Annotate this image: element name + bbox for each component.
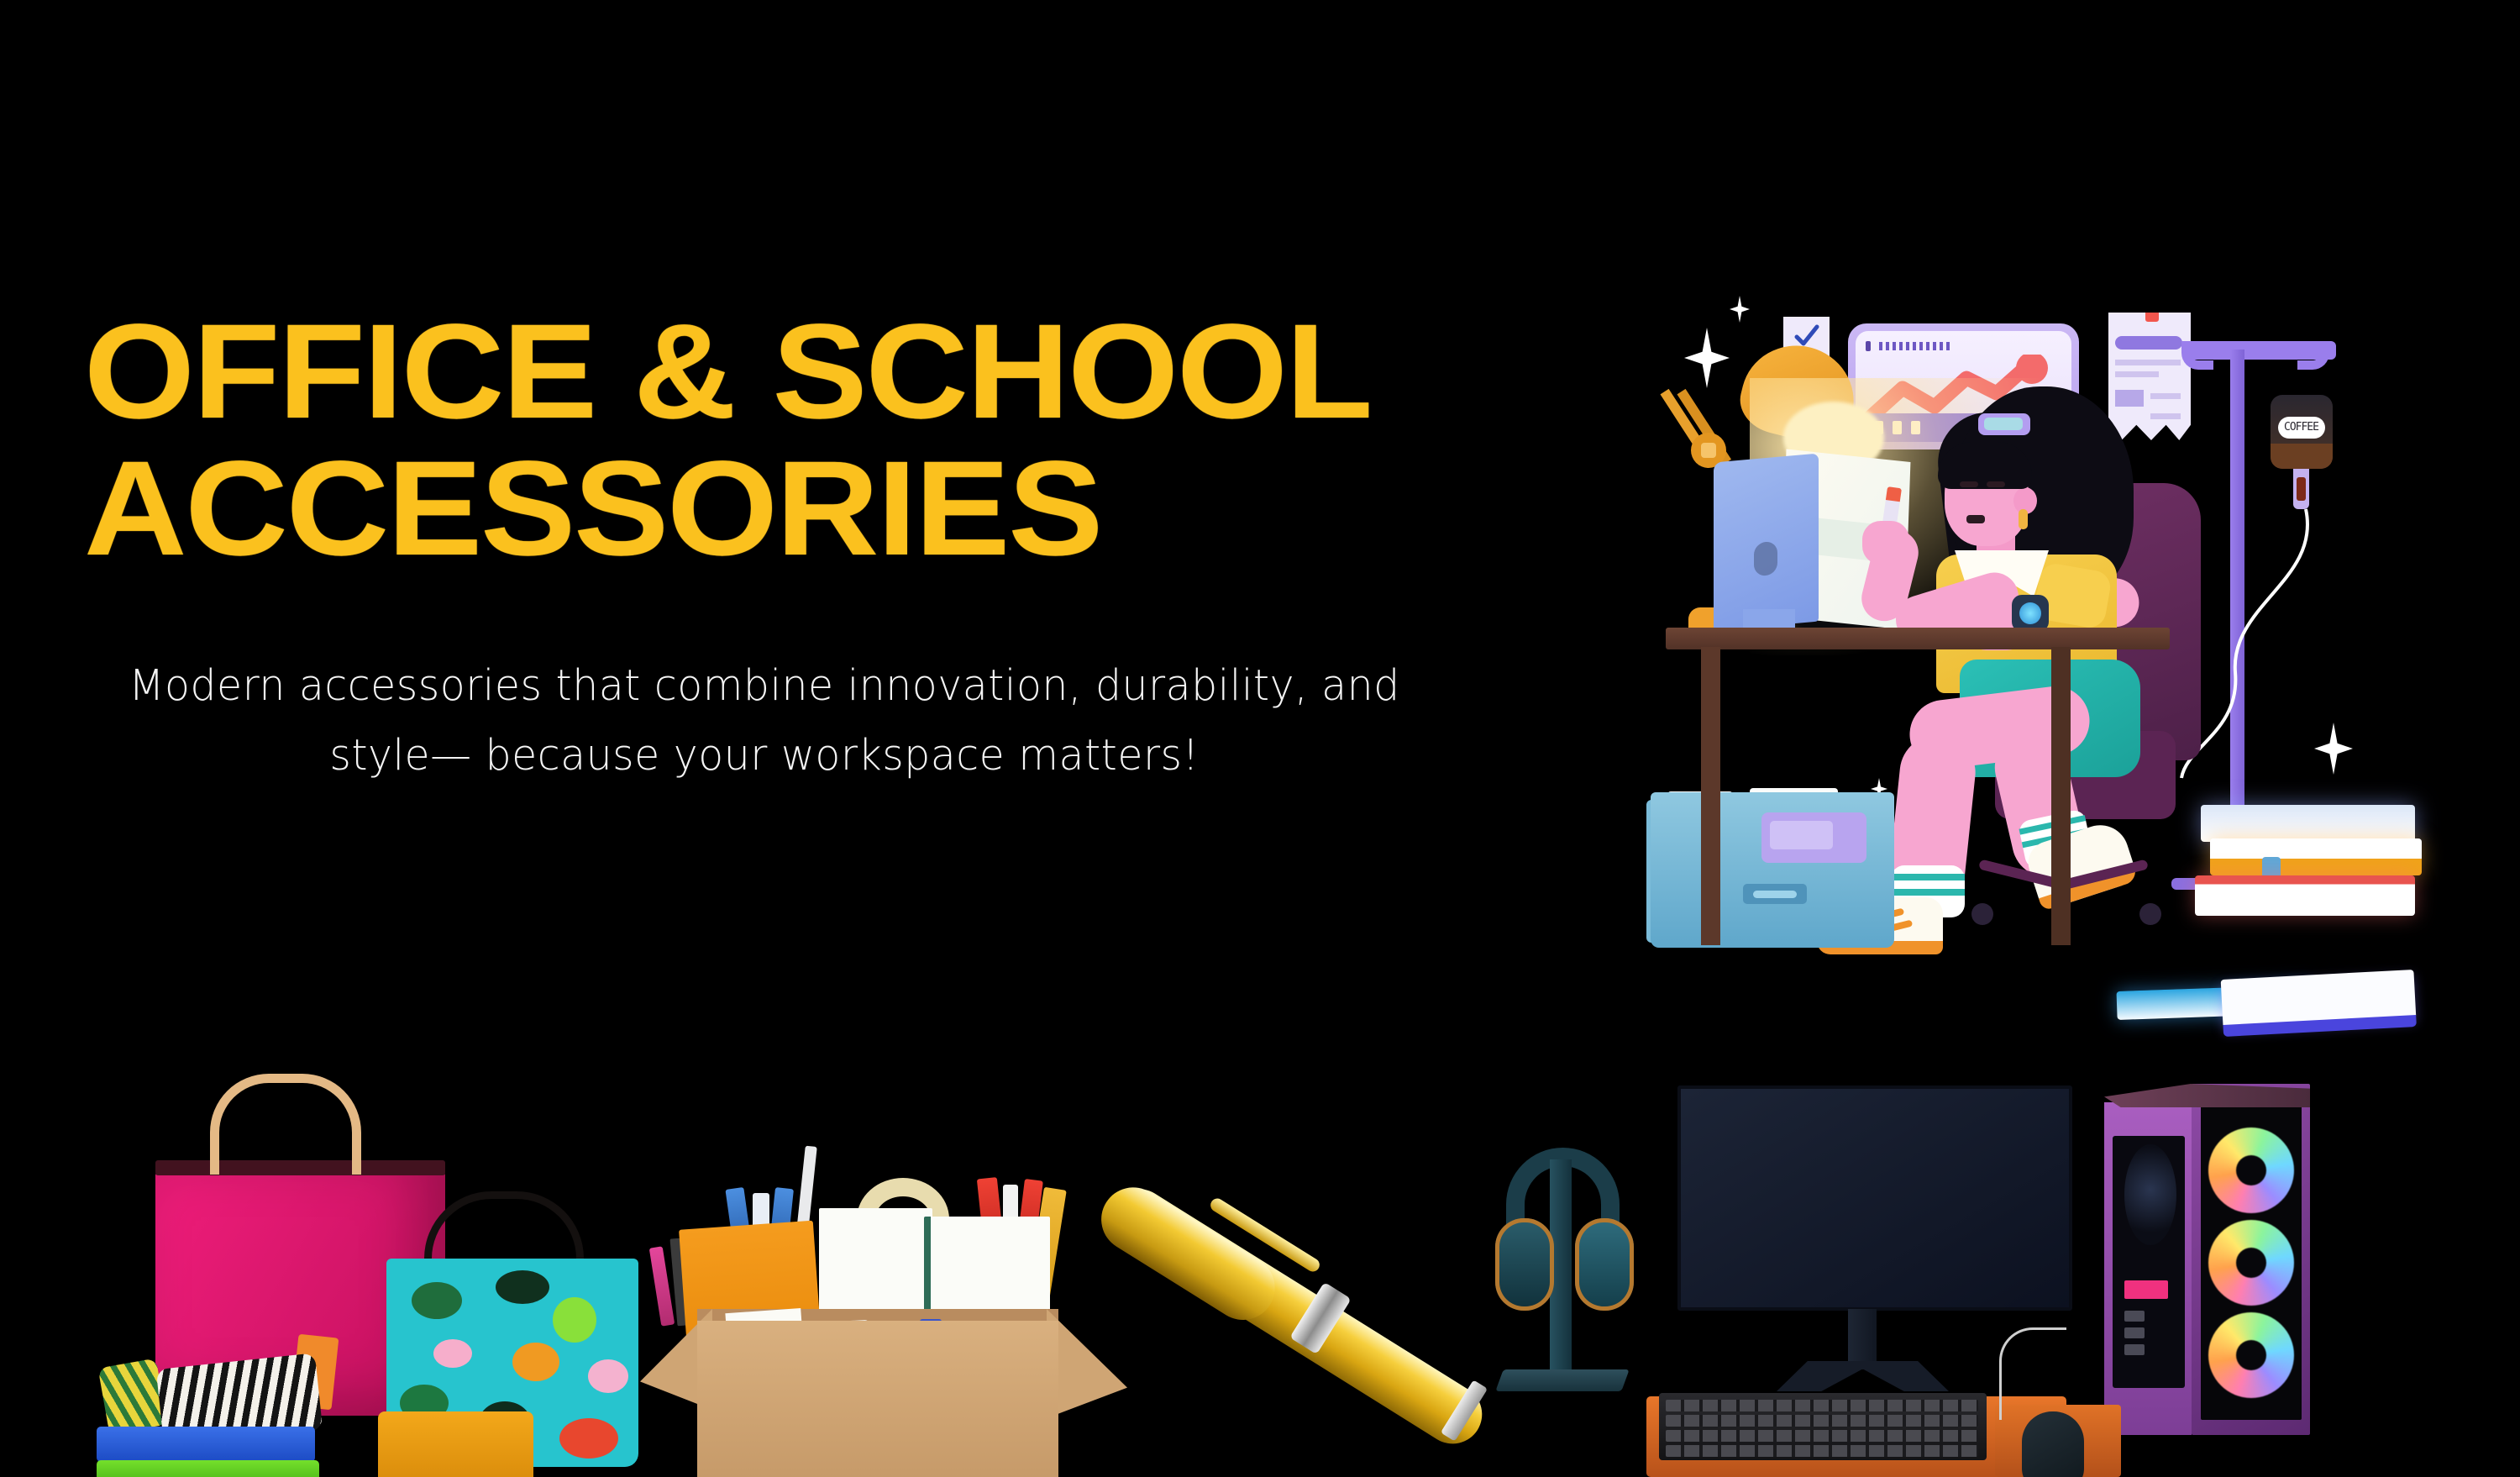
iv-tube bbox=[2180, 504, 2331, 781]
drive-bay bbox=[2124, 1344, 2145, 1355]
book-white bbox=[2201, 805, 2415, 842]
open-book bbox=[2221, 970, 2417, 1028]
headband bbox=[1978, 413, 2030, 435]
rgb-fan bbox=[2208, 1220, 2294, 1306]
smart-watch bbox=[2012, 595, 2049, 632]
hair-bangs bbox=[1938, 442, 2032, 489]
bag-handle bbox=[210, 1074, 361, 1175]
iv-drip-chamber bbox=[2293, 469, 2309, 509]
desk-top bbox=[1666, 628, 2170, 649]
copy-block: OFFICE & SCHOOL ACCESSORIES Modern acces… bbox=[84, 302, 1562, 791]
headphone-ear-cup-right bbox=[1575, 1218, 1634, 1311]
monitor-foot bbox=[1777, 1361, 1949, 1391]
monitor-neck bbox=[1848, 1309, 1877, 1369]
tower-side-panel bbox=[2104, 1102, 2192, 1435]
gaming-computer-setup[interactable] bbox=[1491, 1075, 2348, 1477]
book-red bbox=[2195, 875, 2415, 916]
earring bbox=[2019, 509, 2028, 529]
mechanical-keyboard bbox=[1659, 1393, 1987, 1460]
pink-led-strip bbox=[2124, 1280, 2168, 1299]
stationery-supplies-box[interactable] bbox=[647, 1144, 1117, 1477]
pinned-receipt-note bbox=[2108, 313, 2191, 440]
printed-pouch bbox=[98, 1359, 168, 1435]
promo-banner: OFFICE & SCHOOL ACCESSORIES Modern acces… bbox=[0, 0, 2520, 1477]
desk-leg-right bbox=[2051, 647, 2071, 945]
cardboard-box bbox=[697, 1321, 1058, 1477]
drive-bay bbox=[2124, 1311, 2145, 1322]
computer-monitor bbox=[1714, 454, 1819, 631]
computer-mouse bbox=[2022, 1411, 2084, 1477]
coffee-iv-bag: COFFEE bbox=[2271, 395, 2333, 469]
chair-wheel bbox=[1971, 903, 1993, 925]
iv-hook-left-icon bbox=[2181, 341, 2213, 370]
eyebrow bbox=[1960, 481, 1978, 487]
mouth bbox=[1966, 515, 1985, 523]
eyebrow bbox=[1987, 481, 2005, 487]
tower-top bbox=[2104, 1084, 2310, 1107]
iv-hook-right-icon bbox=[2297, 341, 2329, 370]
bin-handle bbox=[1743, 884, 1807, 904]
internal-fan bbox=[2124, 1144, 2176, 1245]
rgb-fan bbox=[2208, 1127, 2294, 1213]
handbags-product-photo[interactable] bbox=[130, 1084, 668, 1477]
headphone-stand-base bbox=[1495, 1369, 1629, 1391]
stacked-pouch-green bbox=[97, 1460, 319, 1477]
rgb-pc-tower bbox=[2104, 1084, 2310, 1437]
subtitle-text: Modern accessories that combine innovati… bbox=[111, 652, 1417, 791]
drive-bay bbox=[2124, 1327, 2145, 1338]
computer-monitor bbox=[1677, 1085, 2072, 1311]
left-fist bbox=[1862, 521, 1909, 565]
desk-leg-left bbox=[1701, 647, 1720, 945]
pin-icon bbox=[2145, 305, 2159, 322]
headphone-ear-cup-left bbox=[1495, 1218, 1554, 1311]
stacked-pouch-blue bbox=[97, 1427, 315, 1462]
pen-cap bbox=[1089, 1175, 1287, 1332]
sparkle-star-icon bbox=[1684, 328, 1730, 388]
page-title: OFFICE & SCHOOL ACCESSORIES bbox=[84, 302, 1651, 576]
workspace-illustration: COFFEE bbox=[1642, 277, 2407, 1050]
purple-file-folder bbox=[1761, 812, 1866, 863]
tower-glass-panel bbox=[2201, 1101, 2302, 1420]
chair-wheel bbox=[2139, 903, 2161, 925]
card-title-placeholder bbox=[1879, 342, 1951, 350]
mouse-cable bbox=[1999, 1327, 2066, 1420]
card-dot-icon bbox=[1866, 341, 1871, 351]
box-flap-right bbox=[1047, 1309, 1127, 1418]
rgb-fan bbox=[2208, 1312, 2294, 1398]
sparkle-star-icon bbox=[1730, 296, 1750, 323]
yellow-leather-bag bbox=[378, 1411, 533, 1477]
book-orange bbox=[2210, 838, 2422, 875]
product-row bbox=[0, 1084, 2520, 1477]
